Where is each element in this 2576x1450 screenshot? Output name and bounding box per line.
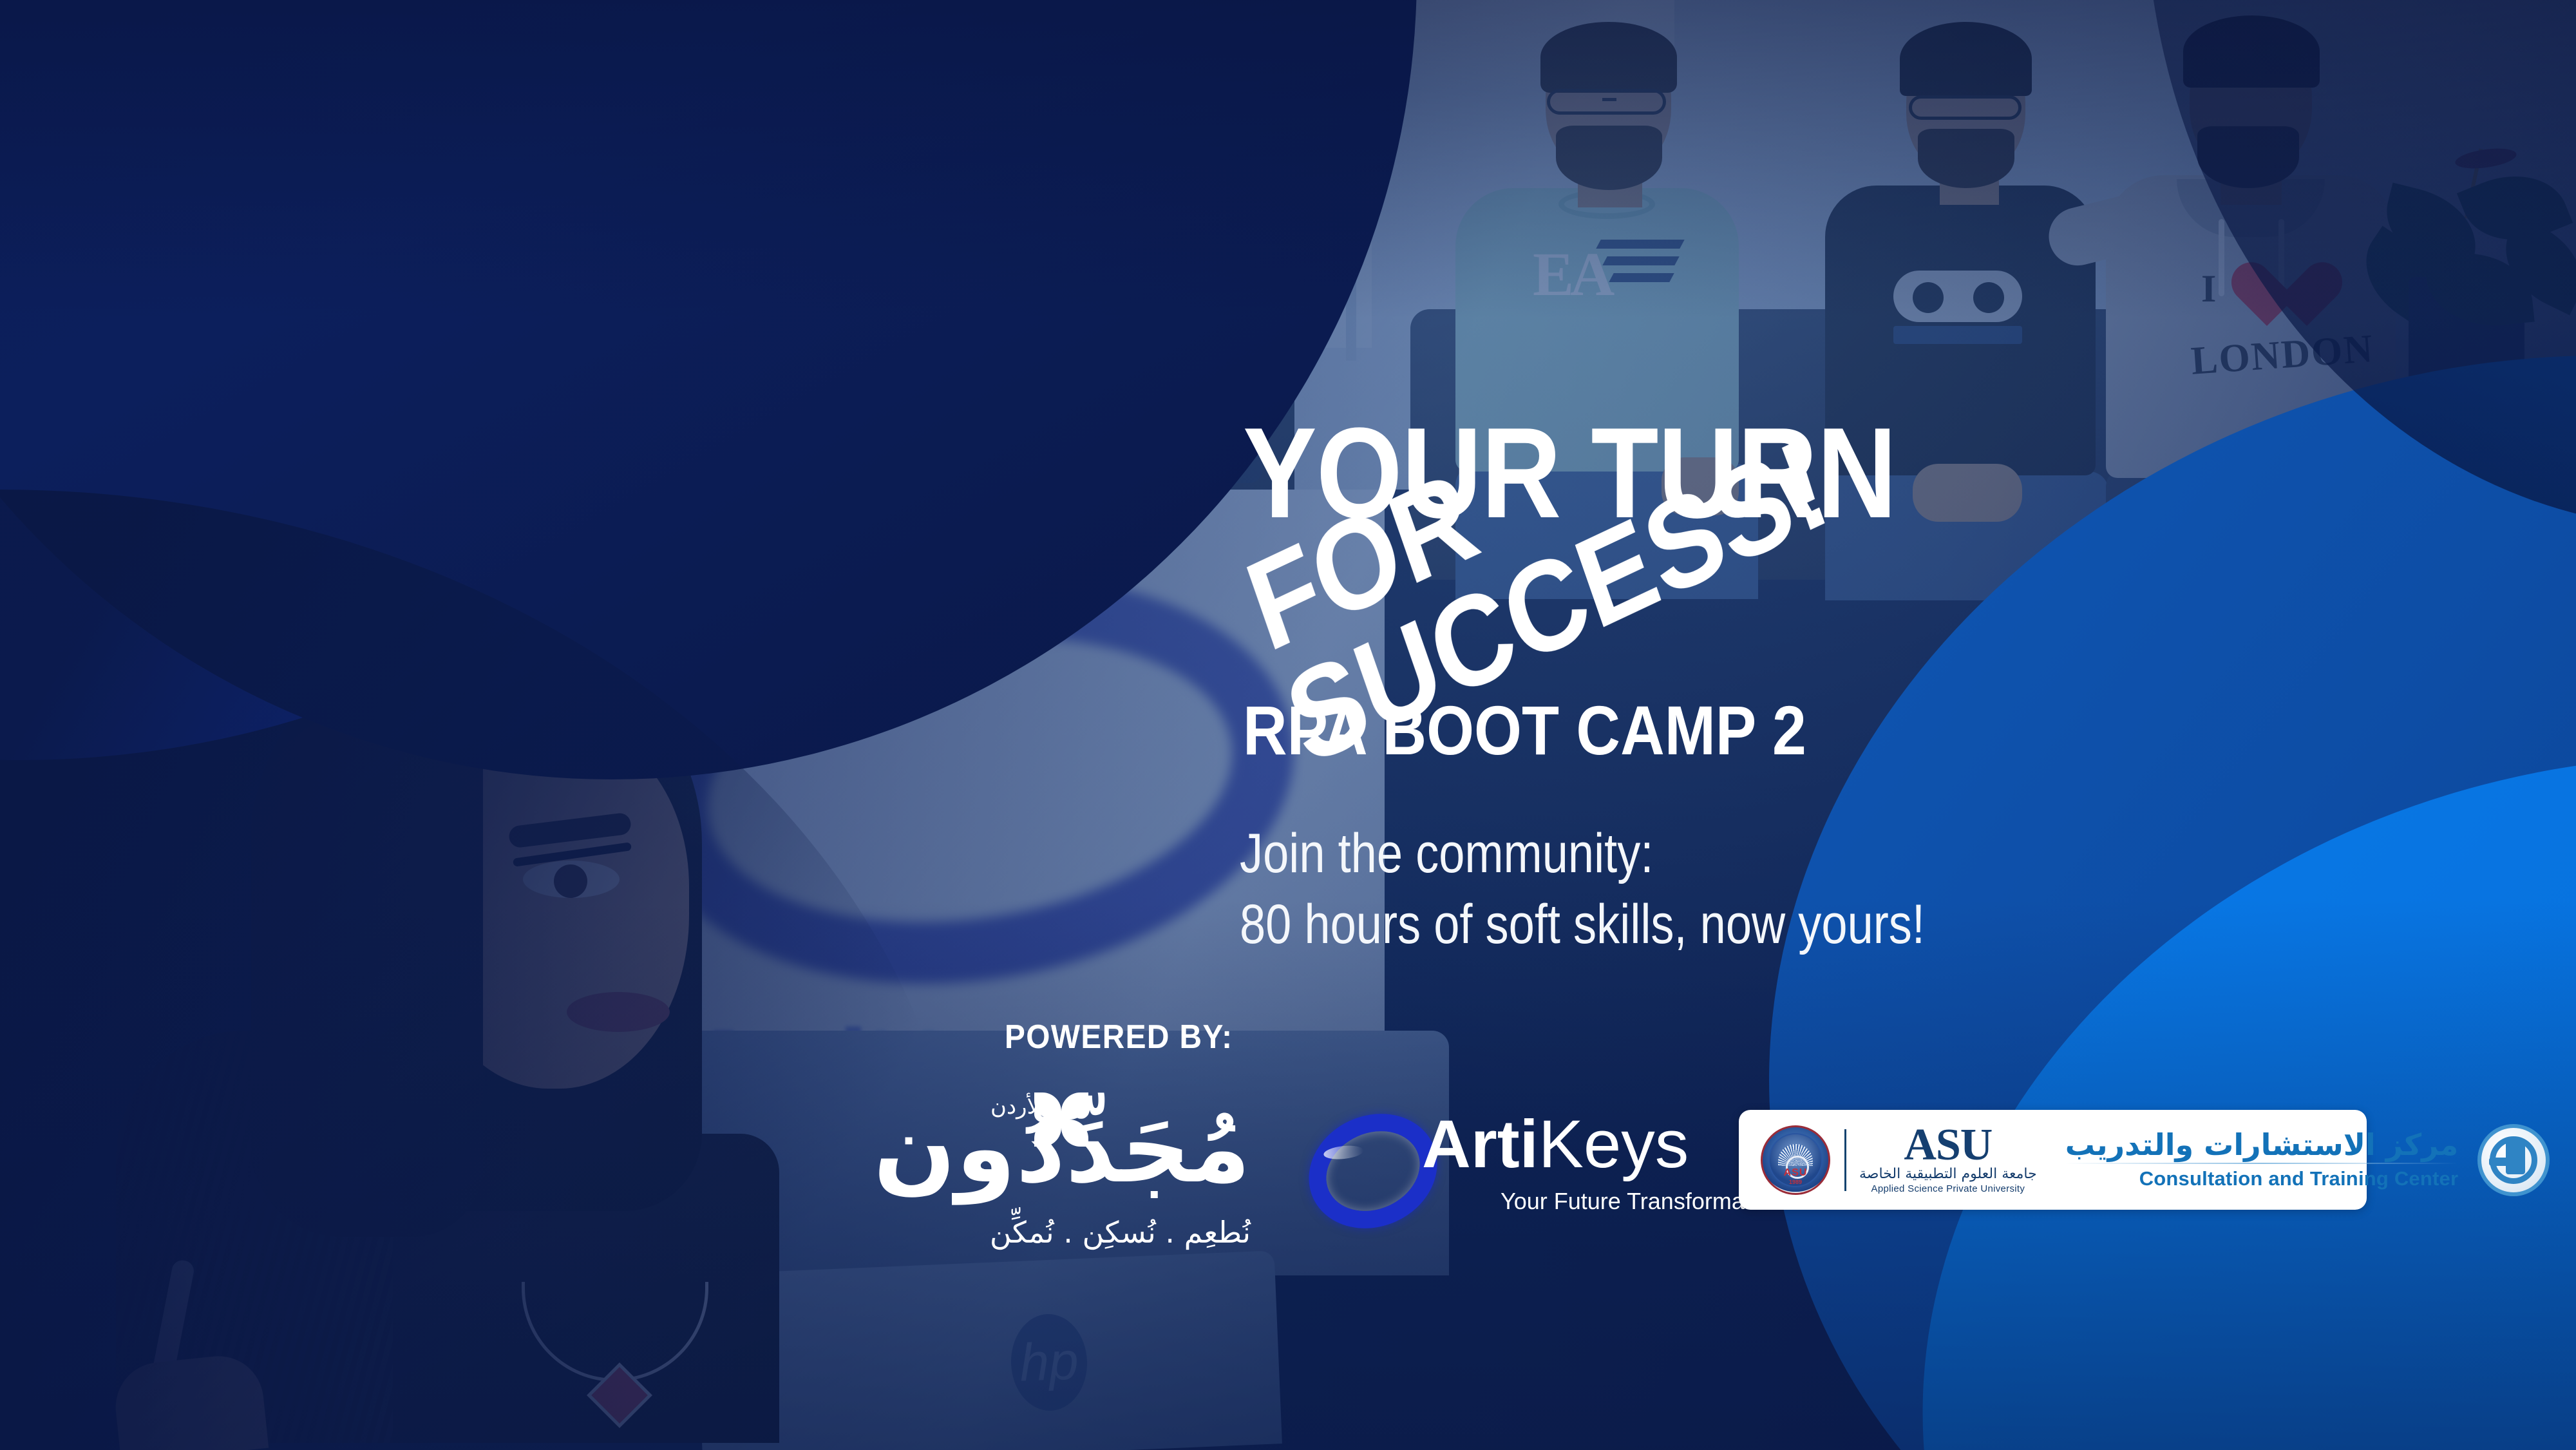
asu-seal-icon: ASU 1989 (1761, 1125, 1830, 1195)
asu-english-name: Applied Science Private University (1859, 1183, 2037, 1194)
ctc-text-block: مركز الاستشارات والتدريب Consultation an… (2065, 1129, 2464, 1190)
description-line-2: 80 hours of soft skills, now yours! (1240, 889, 1925, 960)
mujaddidoun-logo: مُجَدِّدُون الأردن نُطعِم . نُسكِن . نُم… (985, 1089, 1256, 1282)
artikeys-name-light: Keys (1539, 1107, 1689, 1182)
divider (1844, 1129, 1846, 1191)
four-petal-flower-icon (1034, 1092, 1090, 1148)
mujaddidoun-tagline: نُطعِم . نُسكِن . نُمكِّن (990, 1215, 1251, 1250)
ctc-swirl-monogram-icon (2477, 1124, 2550, 1196)
subheadline: RPA BOOT CAMP 2 (1243, 696, 1806, 765)
asu-seal-abbr: ASU (1763, 1167, 1828, 1179)
description-line-1: Join the community: (1240, 818, 1925, 889)
artikeys-name-bold: Arti (1422, 1107, 1539, 1182)
powered-by-label: POWERED BY: (1005, 1018, 1233, 1056)
asu-seal-year: 1989 (1763, 1179, 1828, 1185)
promotional-banner: EA I LONDON (0, 0, 2576, 1450)
description: Join the community: 80 hours of soft ski… (1240, 818, 1925, 960)
asu-abbr: ASU (1859, 1125, 2037, 1165)
artikeys-wordmark: ArtiKeys (1422, 1111, 1689, 1178)
ctc-arabic-name: مركز الاستشارات والتدريب (2065, 1129, 2459, 1160)
divider (2065, 1163, 2459, 1164)
artikeys-logo: ArtiKeys Your Future Transformation (1307, 1102, 1668, 1224)
banner-content: YOUR TURN FOR SUCCESS! RPA BOOT CAMP 2 J… (0, 0, 2576, 1450)
headline: YOUR TURN FOR SUCCESS! (1243, 412, 2351, 606)
asu-text-block: ASU جامعة العلوم التطبيقية الخاصة Applie… (1859, 1125, 2037, 1195)
asu-arabic-name: جامعة العلوم التطبيقية الخاصة (1859, 1166, 2037, 1182)
asu-ctc-logo-card: ASU 1989 ASU جامعة العلوم التطبيقية الخا… (1739, 1110, 2367, 1210)
ctc-english-name: Consultation and Training Center (2065, 1167, 2459, 1190)
